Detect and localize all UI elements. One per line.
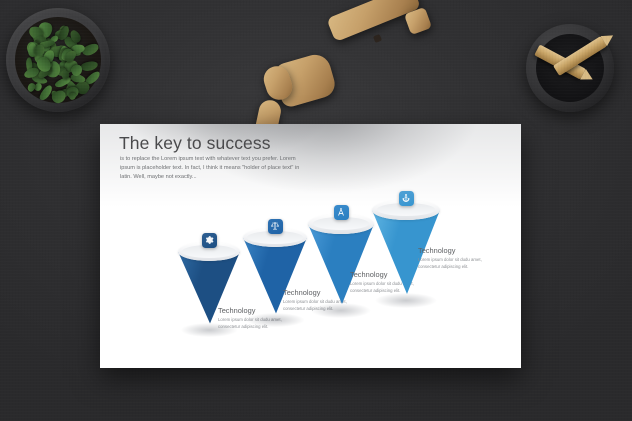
plant-leaf — [69, 92, 76, 99]
slide-title: The key to success — [119, 133, 271, 154]
photo-scene: The key to success is to replace the Lor… — [0, 0, 632, 421]
scales-icon[interactable] — [268, 219, 283, 234]
funnel-stage-3[interactable] — [308, 214, 374, 314]
caption-body: Lorem ipsum dolor sit dudu amet, consect… — [418, 257, 504, 270]
caption-title: Technology — [418, 246, 504, 255]
arm-joint-notch — [373, 34, 382, 43]
slide-subtitle: is to replace the Lorem ipsum text with … — [120, 155, 306, 182]
anchor-icon[interactable] — [399, 191, 414, 206]
pencils-in-bowl — [526, 24, 614, 112]
funnel-caption-4: TechnologyLorem ipsum dolor sit dudu ame… — [418, 246, 504, 270]
wooden-mannequin-arm — [255, 4, 430, 144]
potted-plant — [6, 8, 110, 112]
compass-icon[interactable] — [334, 205, 349, 220]
presentation-slide[interactable]: The key to success is to replace the Lor… — [100, 124, 521, 368]
gear-icon[interactable] — [202, 233, 217, 248]
